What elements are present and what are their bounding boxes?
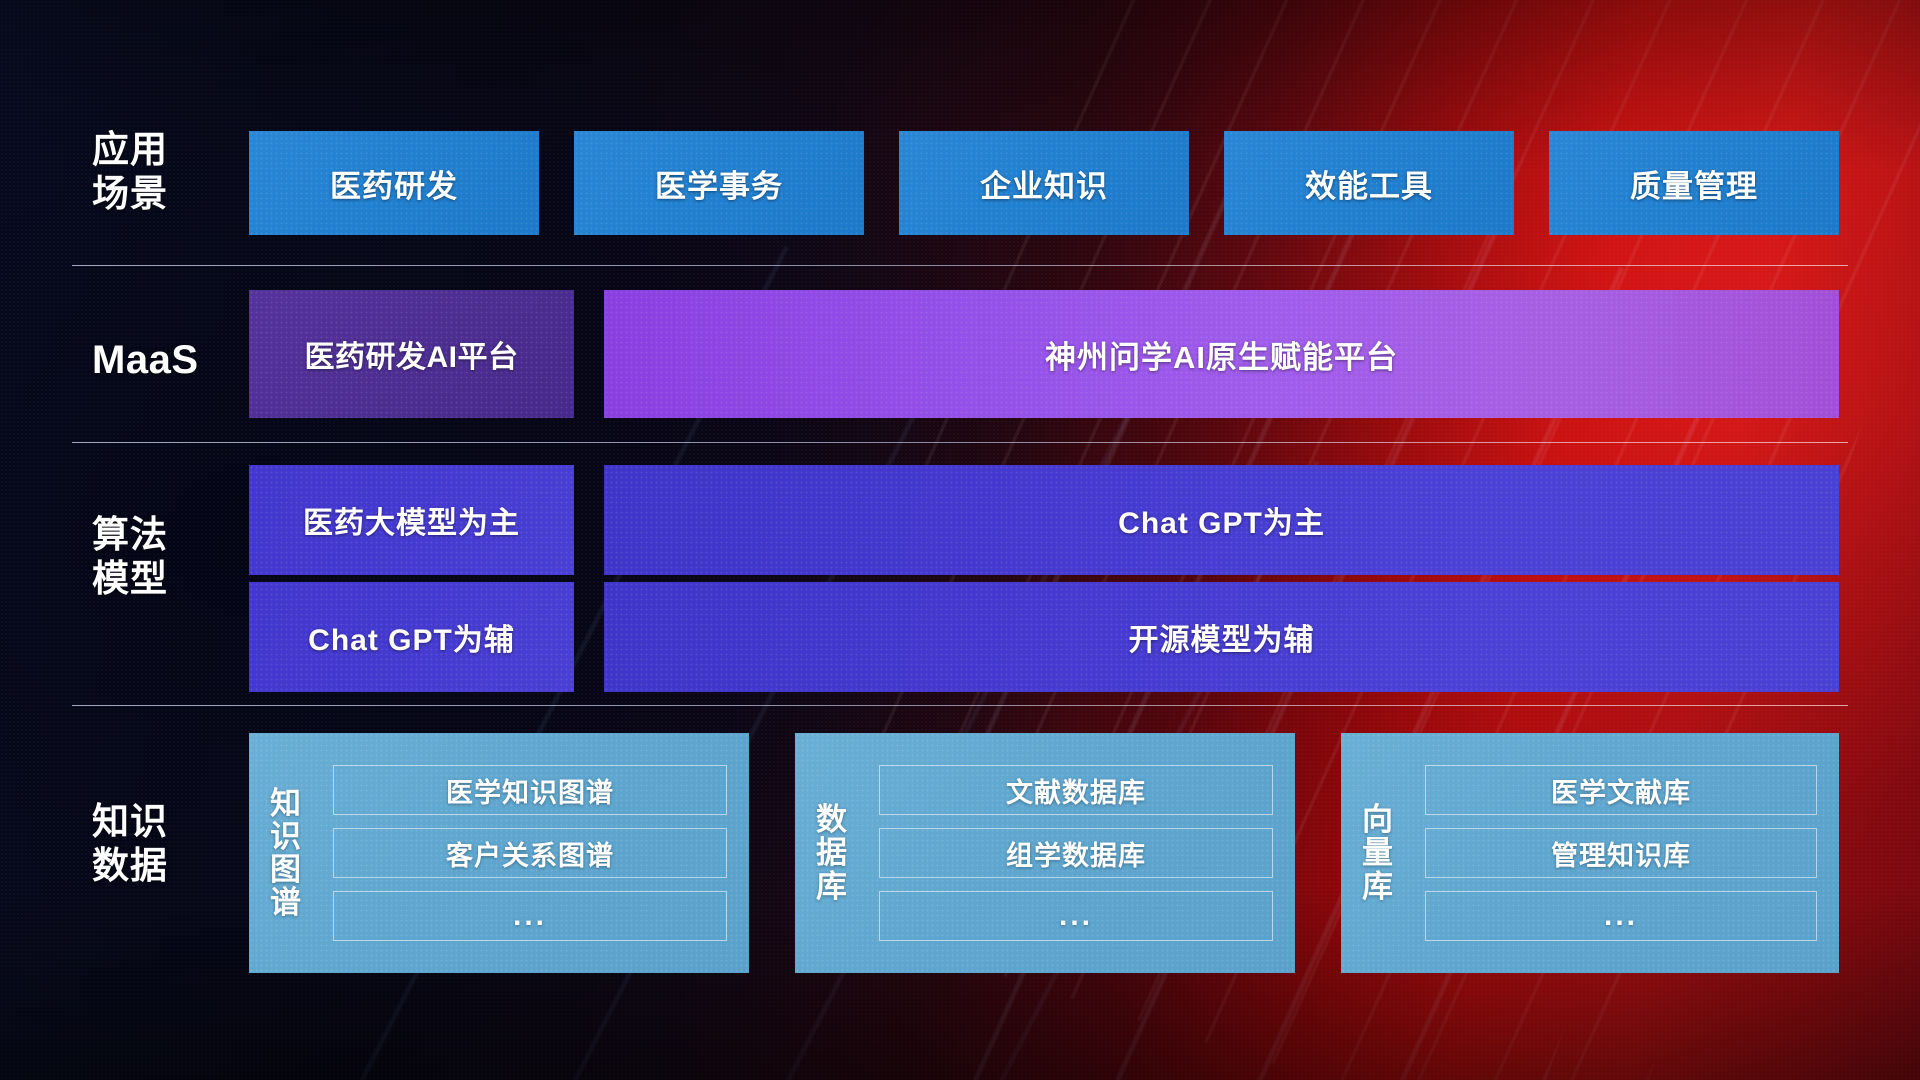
app-box-enterprise-knowledge[interactable]: 企业知识 [899,131,1189,235]
maas-box-drug-rnd-ai-platform[interactable]: 医药研发AI平台 [249,290,574,418]
knowledge-item[interactable]: 客户关系图谱 [333,828,727,878]
title-char: 向 [1362,803,1394,836]
title-char: 量 [1362,836,1394,869]
maas-box-shenzhou-wenxue-platform[interactable]: 神州问学AI原生赋能平台 [604,290,1839,418]
app-box-efficiency-tools[interactable]: 效能工具 [1224,131,1514,235]
title-char: 知 [270,787,302,820]
algo-box-chatgpt-secondary[interactable]: Chat GPT为辅 [249,582,574,692]
knowledge-card-database-title: 数 据 库 [795,803,869,902]
knowledge-card-vector-items: 医学文献库 管理知识库 ... [1415,765,1839,941]
maas-box-label: 医药研发AI平台 [305,332,519,376]
row-label-maas: MaaS [92,337,222,384]
app-box-drug-rnd[interactable]: 医药研发 [249,131,539,235]
row-label-algorithm: 算法 模型 [92,513,222,600]
algo-box-chatgpt-primary[interactable]: Chat GPT为主 [604,465,1839,575]
app-box-label: 效能工具 [1305,161,1433,206]
app-box-label: 企业知识 [980,161,1108,206]
row-label-knowledge: 知识 数据 [92,800,222,887]
knowledge-item[interactable]: 医学知识图谱 [333,765,727,815]
algo-box-label: 开源模型为辅 [1129,615,1315,659]
title-char: 图 [270,853,302,886]
knowledge-item-more[interactable]: ... [1425,891,1817,941]
knowledge-card-database[interactable]: 数 据 库 文献数据库 组学数据库 ... [795,733,1295,973]
algo-box-drug-llm-primary[interactable]: 医药大模型为主 [249,465,574,575]
title-char: 据 [816,836,848,869]
knowledge-item-more[interactable]: ... [333,891,727,941]
knowledge-card-vector[interactable]: 向 量 库 医学文献库 管理知识库 ... [1341,733,1839,973]
knowledge-item[interactable]: 文献数据库 [879,765,1273,815]
row-label-algorithm-line2: 模型 [92,557,222,601]
title-char: 库 [1362,870,1394,903]
row-label-application-line1: 应用 [92,128,222,172]
divider-2 [72,442,1848,443]
app-box-label: 质量管理 [1630,161,1758,206]
slide-canvas: 应用 场景 医药研发 医学事务 企业知识 效能工具 质量管理 MaaS [0,0,1920,1080]
algo-box-label: 医药大模型为主 [303,498,520,542]
app-box-label: 医药研发 [330,161,458,206]
knowledge-card-graph-items: 医学知识图谱 客户关系图谱 ... [323,765,749,941]
title-char: 库 [816,870,848,903]
maas-box-label: 神州问学AI原生赋能平台 [1045,332,1398,377]
knowledge-item-more[interactable]: ... [879,891,1273,941]
divider-3 [72,705,1848,706]
knowledge-card-graph-title: 知 识 图 谱 [249,787,323,920]
app-box-quality-management[interactable]: 质量管理 [1549,131,1839,235]
algo-box-label: Chat GPT为主 [1118,498,1325,542]
row-label-application: 应用 场景 [92,128,222,215]
divider-1 [72,265,1848,266]
row-label-knowledge-line2: 数据 [92,844,222,888]
knowledge-item[interactable]: 组学数据库 [879,828,1273,878]
title-char: 识 [270,820,302,853]
knowledge-card-graph[interactable]: 知 识 图 谱 医学知识图谱 客户关系图谱 ... [249,733,749,973]
knowledge-item[interactable]: 管理知识库 [1425,828,1817,878]
title-char: 数 [816,803,848,836]
row-label-maas-text: MaaS [92,337,222,384]
app-box-label: 医学事务 [655,161,783,206]
row-label-application-line2: 场景 [92,172,222,216]
knowledge-item[interactable]: 医学文献库 [1425,765,1817,815]
app-box-medical-affairs[interactable]: 医学事务 [574,131,864,235]
title-char: 谱 [270,886,302,919]
row-label-algorithm-line1: 算法 [92,513,222,557]
algo-box-opensource-secondary[interactable]: 开源模型为辅 [604,582,1839,692]
knowledge-card-database-items: 文献数据库 组学数据库 ... [869,765,1295,941]
algo-box-label: Chat GPT为辅 [308,615,515,659]
diagram-content: 应用 场景 医药研发 医学事务 企业知识 效能工具 质量管理 MaaS [0,0,1920,1080]
row-label-knowledge-line1: 知识 [92,800,222,844]
knowledge-card-vector-title: 向 量 库 [1341,803,1415,902]
